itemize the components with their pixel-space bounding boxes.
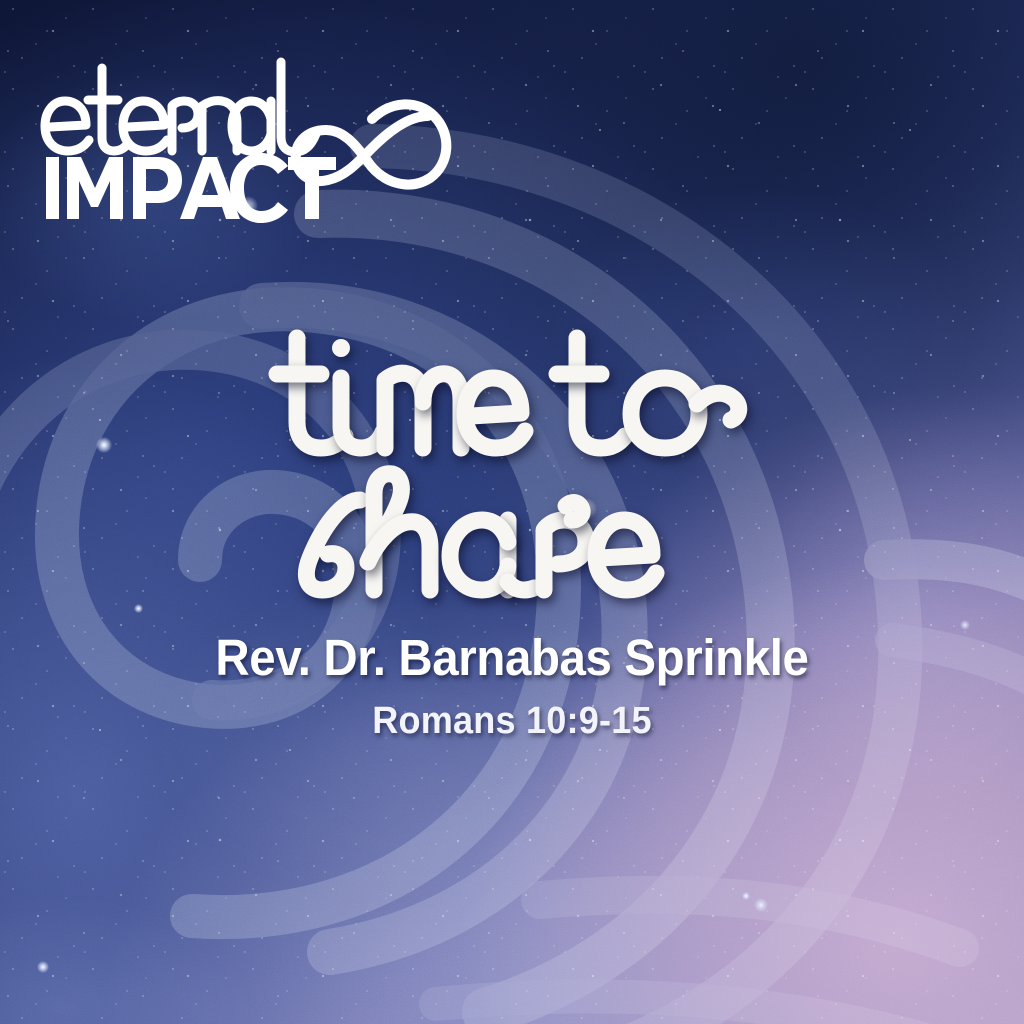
credits-block: Rev. Dr. Barnabas Sprinkle Romans 10:9-1… [0,630,1024,743]
brand-logo [40,44,460,194]
logo-script-eternal [45,62,316,152]
poster-canvas: Rev. Dr. Barnabas Sprinkle Romans 10:9-1… [0,0,1024,1024]
scripture-reference: Romans 10:9-15 [26,701,999,743]
title-line-1 [267,330,757,460]
series-title [0,330,1024,604]
speaker-name: Rev. Dr. Barnabas Sprinkle [36,630,988,685]
title-line-2 [282,454,742,604]
